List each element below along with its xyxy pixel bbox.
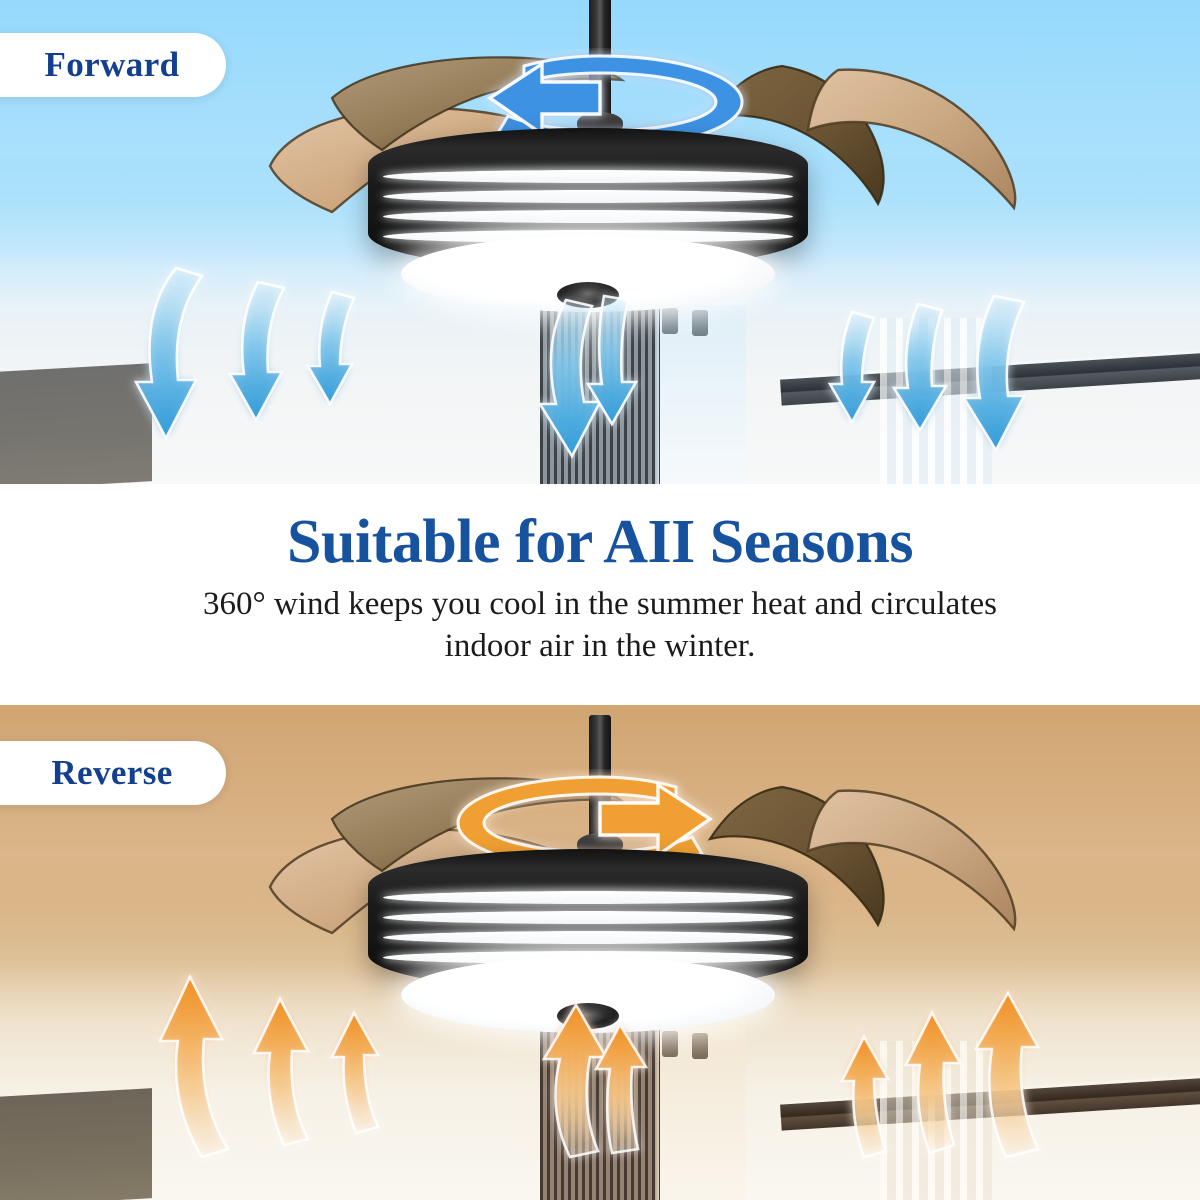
airflow-arrows-up <box>0 705 1200 1200</box>
panel-reverse: Reverse <box>0 705 1200 1200</box>
airflow-arrows-down <box>0 0 1200 484</box>
product-feature-graphic: Forward Suitable for AII Seasons 360° wi… <box>0 0 1200 1200</box>
headline-band: Suitable for AII Seasons 360° wind keeps… <box>0 484 1200 705</box>
page-title: Suitable for AII Seasons <box>287 510 913 574</box>
page-subtitle: 360° wind keeps you cool in the summer h… <box>160 584 1040 667</box>
panel-forward: Forward <box>0 0 1200 484</box>
